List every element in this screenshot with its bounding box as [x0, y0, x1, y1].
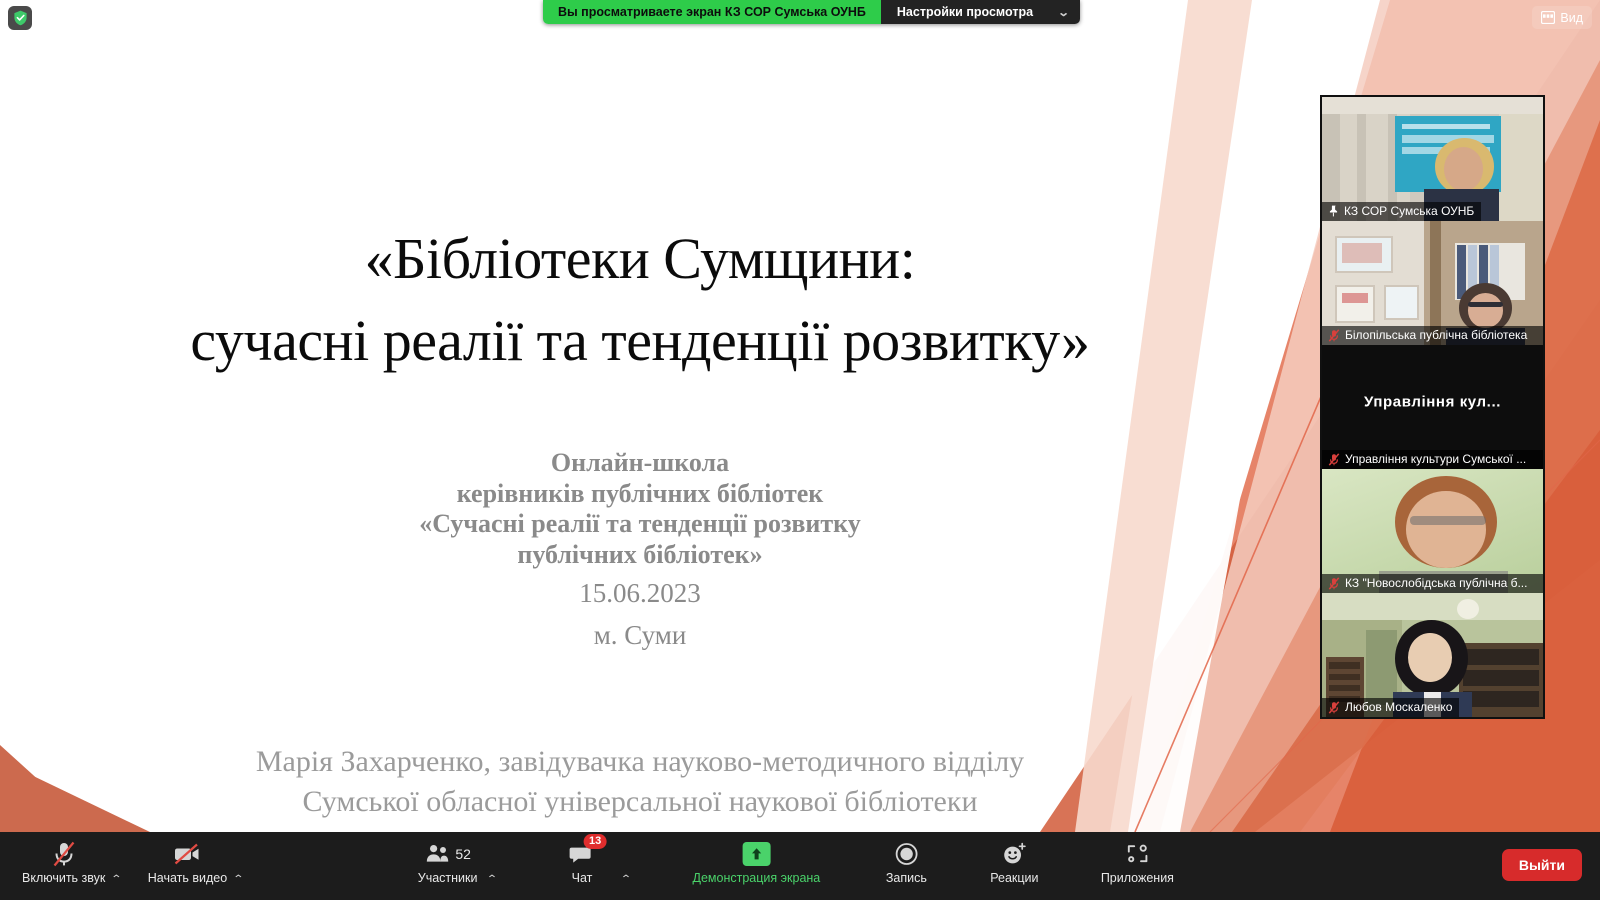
mic-muted-icon	[1328, 701, 1340, 714]
toolbar-center-group: 52 Участники ⌃ 13 Чат ⌃	[407, 832, 1194, 900]
slide-author: Марія Захарченко, завідувачка науково-ме…	[40, 742, 1240, 822]
mic-muted-icon	[1328, 329, 1340, 342]
mic-muted-icon	[1328, 453, 1340, 466]
unmute-button[interactable]: Включить звук	[14, 832, 113, 885]
mic-muted-icon	[51, 840, 77, 868]
participant-tile[interactable]: Білопільська публічна бібліотека	[1322, 221, 1543, 345]
chevron-down-icon: ⌄	[1057, 6, 1069, 19]
participants-button[interactable]: 52 Участники	[407, 832, 489, 885]
slide-subtitle-line-2: керівників публічних бібліотек	[40, 479, 1240, 510]
participant-name: КЗ СОР Сумська ОУНБ	[1344, 204, 1474, 218]
reactions-label: Реакции	[990, 871, 1038, 885]
participant-name-bar: Любов Москаленко	[1322, 698, 1459, 717]
slide-title-line-1: «Бібліотеки Сумщини:	[40, 218, 1240, 300]
participant-name-bar: КЗ СОР Сумська ОУНБ	[1322, 202, 1481, 221]
unmute-label: Включить звук	[22, 871, 105, 885]
start-video-label: Начать видео	[148, 871, 227, 885]
toolbar-left-group: Включить звук ⌃ Начать видео ⌃	[14, 832, 248, 900]
participants-label: Участники	[418, 871, 478, 885]
pin-icon	[1328, 205, 1339, 217]
participant-tile[interactable]: Любов Москаленко	[1322, 593, 1543, 717]
share-screen-label: Демонстрация экрана	[693, 871, 821, 885]
chat-group: 13 Чат ⌃	[541, 832, 635, 885]
participants-options-chevron-icon[interactable]: ⌃	[486, 860, 503, 885]
participant-tile[interactable]: Управління кул... Управління культури Су…	[1322, 345, 1543, 469]
view-settings-dropdown[interactable]: Настройки просмотра ⌄	[881, 0, 1080, 24]
video-control-group: Начать видео ⌃	[140, 832, 248, 885]
participant-name: КЗ "Новослобідська публічна б...	[1345, 576, 1527, 590]
view-button[interactable]: Вид	[1532, 6, 1592, 29]
chat-options-chevron-icon[interactable]: ⌃	[621, 860, 638, 885]
audio-options-chevron-icon[interactable]: ⌃	[111, 860, 128, 885]
screen-share-banner: Вы просматриваете экран КЗ СОР Сумська О…	[543, 0, 1080, 24]
share-screen-button[interactable]: Демонстрация экрана	[673, 832, 839, 885]
slide-author-line-1: Марія Захарченко, завідувачка науково-ме…	[40, 742, 1240, 782]
participant-filmstrip[interactable]: КЗ СОР Сумська ОУНБ	[1320, 95, 1545, 719]
slide-author-line-2: Сумської обласної універсальної наукової…	[40, 782, 1240, 822]
participants-group: 52 Участники ⌃	[407, 832, 501, 885]
slide-title: «Бібліотеки Сумщини: сучасні реалії та т…	[40, 218, 1240, 383]
zoom-meeting-window: «Бібліотеки Сумщини: сучасні реалії та т…	[0, 0, 1600, 900]
people-icon: 52	[424, 840, 471, 868]
leave-meeting-button[interactable]: Выйти	[1502, 849, 1582, 881]
slide-city: м. Суми	[40, 620, 1240, 651]
chat-button[interactable]: 13 Чат	[541, 832, 623, 885]
share-notice-label: Вы просматриваете экран КЗ СОР Сумська О…	[543, 0, 881, 24]
participant-avatar-label: Управління кул...	[1322, 394, 1543, 411]
toolbar-right-group: Выйти	[1502, 849, 1582, 881]
meeting-toolbar: Включить звук ⌃ Начать видео ⌃	[0, 832, 1600, 900]
participant-name-bar: КЗ "Новослобідська публічна б...	[1322, 574, 1543, 593]
apps-button[interactable]: Приложения	[1081, 832, 1193, 885]
slide-subtitle-line-4: публічних бібліотек»	[40, 540, 1240, 571]
chat-unread-badge: 13	[584, 834, 606, 849]
shield-check-icon	[13, 10, 28, 26]
security-button[interactable]	[8, 6, 32, 30]
chat-label: Чат	[572, 871, 593, 885]
participant-tile[interactable]: КЗ "Новослобідська публічна б...	[1322, 469, 1543, 593]
record-button[interactable]: Запись	[865, 832, 947, 885]
slide-subtitle-line-1: Онлайн-школа	[40, 448, 1240, 479]
record-circle-icon	[894, 840, 918, 868]
share-up-arrow-icon	[742, 840, 770, 868]
apps-label: Приложения	[1101, 871, 1174, 885]
mic-muted-icon	[1328, 577, 1340, 590]
slide-subtitle-line-3: «Сучасні реалії та тенденції розвитку	[40, 509, 1240, 540]
video-options-chevron-icon[interactable]: ⌃	[233, 860, 250, 885]
start-video-button[interactable]: Начать видео	[140, 832, 235, 885]
view-button-label: Вид	[1560, 11, 1583, 25]
participant-name: Любов Москаленко	[1345, 700, 1452, 714]
view-settings-label: Настройки просмотра	[897, 5, 1033, 19]
smiley-plus-icon	[1001, 840, 1027, 868]
participant-name: Управління культури Сумської ...	[1345, 452, 1526, 466]
participant-name-bar: Управління культури Сумської ...	[1322, 450, 1543, 469]
participant-name: Білопільська публічна бібліотека	[1345, 328, 1527, 342]
apps-brackets-icon	[1124, 840, 1150, 868]
slide-subtitle: Онлайн-школа керівників публічних бібліо…	[40, 448, 1240, 571]
participant-tile[interactable]: КЗ СОР Сумська ОУНБ	[1322, 97, 1543, 221]
participants-count: 52	[455, 846, 471, 862]
slide-date: 15.06.2023	[40, 578, 1240, 609]
video-off-icon	[172, 840, 202, 868]
reactions-button[interactable]: Реакции	[973, 832, 1055, 885]
participant-name-bar: Білопільська публічна бібліотека	[1322, 326, 1543, 345]
slide-title-line-2: сучасні реалії та тенденції розвитку»	[40, 300, 1240, 382]
record-label: Запись	[886, 871, 927, 885]
grid-icon	[1541, 11, 1555, 24]
audio-control-group: Включить звук ⌃	[14, 832, 126, 885]
